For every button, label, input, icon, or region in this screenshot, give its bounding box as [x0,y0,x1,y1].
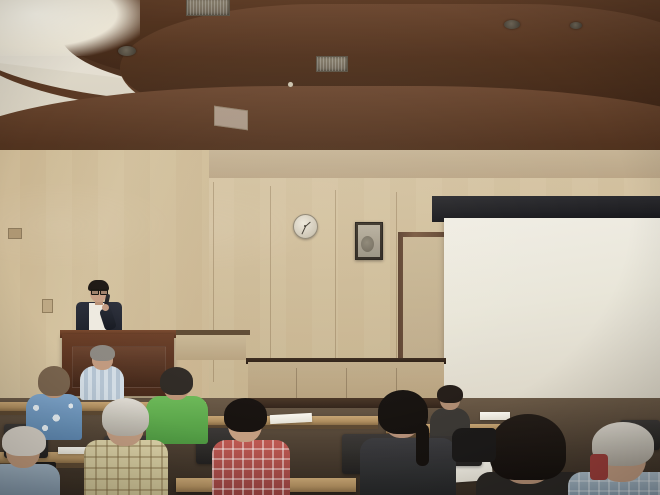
attendee-far-left-front [0,430,60,495]
ceiling-vent [316,56,348,72]
ceiling-downlight [570,22,582,29]
wall-speaker [355,222,383,260]
ceiling-vent [186,0,230,16]
attendee-plaid-cream [84,404,168,495]
wall-seam [270,186,271,378]
speaker-cone [361,236,374,252]
wall-switch-plate[interactable] [42,299,53,313]
side-table [176,334,246,360]
attendee-blue-floral [26,370,82,430]
attendee-red-plaid [212,404,290,495]
wall-clock [293,214,318,239]
wall-seam [396,192,397,374]
ceiling-downlight [504,20,520,29]
door-panel[interactable] [403,237,449,377]
face-mask [590,454,608,480]
foreground-bag [452,428,496,462]
attendee-striped-shirt [80,348,124,396]
attendee-grey-plaid-right [592,424,660,495]
ceiling-downlight [118,46,136,56]
clock-center-pin [304,225,307,228]
presenter-hand [102,304,109,311]
clock-minute-hand [301,226,305,234]
presenter-glasses-left [91,289,99,295]
projection-screen: はじめに 第1表 公的年金制度の加入者数の推移 （厚生労働省年金局調べ） 単位：… [444,218,660,400]
lecture-hall-photo: はじめに 第1表 公的年金制度の加入者数の推移 （厚生労働省年金局調べ） 単位：… [0,0,660,495]
ponytail [416,424,429,466]
sprinkler-head [288,82,293,87]
side-table-top [176,330,250,335]
wall-outlet[interactable] [8,228,22,239]
wall-seam [335,190,336,375]
